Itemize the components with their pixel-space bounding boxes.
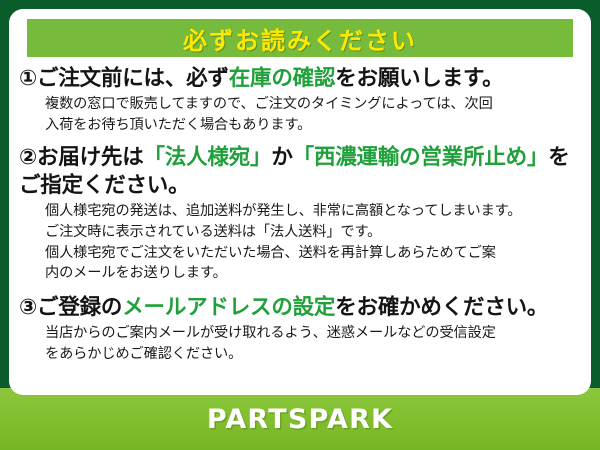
notice-item-3-head-highlight: メールアドレスの設定 [122,295,335,320]
notice-item-3-body-line-1: 当店からのご案内メールが受け取れるよう、迷惑メールなどの受信設定 [45,323,581,344]
notice-item-2-head-highlight-1: 「法人様宛」 [144,145,272,170]
notice-item-2-body-line-1: 個人様宅宛の発送は、追加送料が発生し、非常に高額となってしまいます。 [45,201,581,222]
notice-item-2-body-line-4: 内のメールをお送りします。 [45,263,581,284]
notice-item-3: ③ご登録のメールアドレスの設定をお確かめください。 当店からのご案内メールが受け… [9,294,591,364]
notice-item-1: ①ご注文前には、必ず在庫の確認をお願いします。 複数の窓口で販売してますので、ご… [9,65,591,135]
brand-logo-text: PARTSPARK [207,404,393,435]
notice-item-2-head-part-3: か [271,145,292,170]
notice-item-1-head-highlight: 在庫の確認 [229,66,336,91]
notice-item-3-head-part-1: ご登録の [37,295,122,320]
notice-item-2-body: 個人様宅宛の発送は、追加送料が発生し、非常に高額となってしまいます。 ご注文時に… [45,201,581,284]
notice-item-3-body-line-2: をあらかじめご確認ください。 [45,344,581,365]
notice-item-3-marker: ③ [19,295,37,320]
notice-item-1-body-line-1: 複数の窓口で販売してますので、ご注文のタイミングによっては、次回 [45,94,581,115]
notice-item-1-body-line-2: 入荷をお待ち頂いただく場合もあります。 [45,115,581,136]
notice-item-2-body-line-3: 個人様宅宛でご注文をいただいた場合、送料を再計算しあらためてご案 [45,243,581,264]
notice-item-2-heading: ②お届け先は「法人様宛」か「西濃運輸の営業所止め」をご指定ください。 [19,144,581,200]
notice-item-2-marker: ② [19,145,37,170]
notice-item-1-head-part-3: をお願いします。 [335,66,503,91]
notice-item-1-marker: ① [19,66,37,91]
notice-item-2-body-line-2: ご注文時に表示されている送料は「法人送料」です。 [45,222,581,243]
notice-card: PARTSPARK 必ずお読みください ①ご注文前には、必ず在庫の確認をお願いし… [0,0,600,450]
notice-item-3-heading: ③ご登録のメールアドレスの設定をお確かめください。 [19,294,581,322]
title-banner: 必ずお読みください [27,19,573,57]
notice-items-list: ①ご注文前には、必ず在庫の確認をお願いします。 複数の窓口で販売してますので、ご… [9,65,591,365]
notice-item-3-head-part-3: をお確かめください。 [335,295,548,320]
notice-item-2-head-highlight-2: 「西濃運輸の営業所止め」 [293,145,549,170]
notice-item-2: ②お届け先は「法人様宛」か「西濃運輸の営業所止め」をご指定ください。 個人様宅宛… [9,144,591,284]
white-content-card: 必ずお読みください ①ご注文前には、必ず在庫の確認をお願いします。 複数の窓口で… [9,9,591,395]
page-title: 必ずお読みください [183,21,417,56]
notice-item-1-heading: ①ご注文前には、必ず在庫の確認をお願いします。 [19,65,581,93]
notice-item-1-body: 複数の窓口で販売してますので、ご注文のタイミングによっては、次回 入荷をお待ち頂… [45,94,581,135]
notice-item-3-body: 当店からのご案内メールが受け取れるよう、迷惑メールなどの受信設定 をあらかじめご… [45,323,581,364]
notice-item-1-head-part-1: ご注文前には、必ず [37,66,229,91]
footer-brand-band: PARTSPARK [0,388,600,450]
notice-item-2-head-part-1: お届け先は [37,145,144,170]
